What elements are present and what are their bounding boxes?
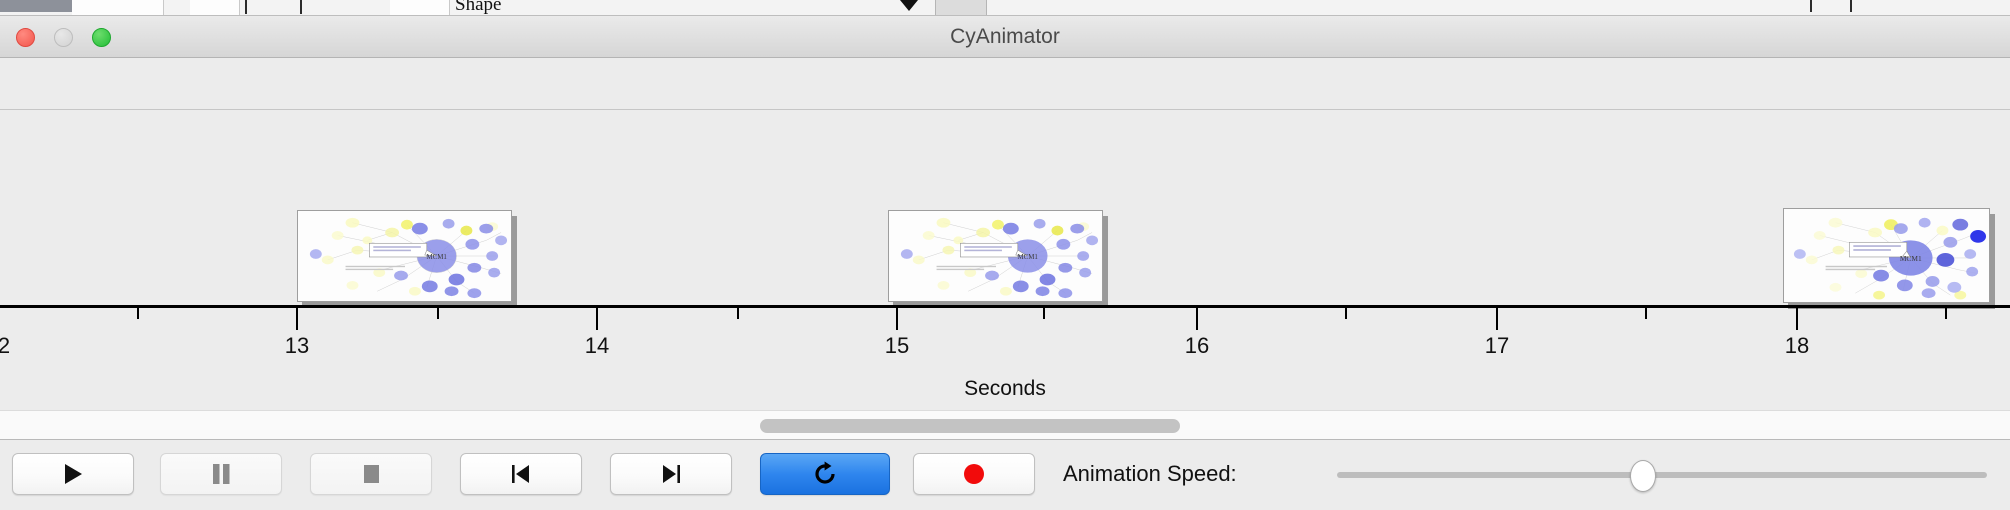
hub-node-label: MCM1 bbox=[1018, 254, 1039, 261]
timeline-frame[interactable]: MCM1 bbox=[888, 210, 1103, 302]
axis-tick bbox=[1496, 308, 1498, 330]
bg-shape-label: Shape bbox=[455, 0, 501, 16]
axis-tick bbox=[596, 308, 598, 330]
bg-wedge bbox=[900, 0, 918, 11]
hub-node-label: MCM1 bbox=[427, 254, 448, 261]
bg-dark-block bbox=[0, 0, 72, 12]
axis-tick bbox=[737, 308, 739, 319]
axis-tick-label: 17 bbox=[1485, 333, 1509, 359]
bg-segment bbox=[390, 0, 450, 16]
axis-tick-label: 13 bbox=[285, 333, 309, 359]
network-graph: MCM1 bbox=[889, 211, 1102, 301]
axis-tick bbox=[1945, 308, 1947, 319]
timeline-axis[interactable]: 2 13 14 15 16 17 18 Seconds bbox=[0, 305, 2010, 410]
timeline-frame[interactable]: MCM1 bbox=[297, 210, 512, 302]
axis-tick-label: 18 bbox=[1785, 333, 1809, 359]
play-button[interactable] bbox=[12, 453, 134, 495]
bg-tick bbox=[1850, 0, 1852, 12]
timeline-panel[interactable]: MCM1 bbox=[0, 110, 2010, 410]
network-graph: MCM1 bbox=[298, 211, 511, 301]
skip-end-icon bbox=[658, 461, 684, 487]
background-window-strip: Shape bbox=[0, 0, 2010, 16]
frames-layer: MCM1 bbox=[0, 110, 2010, 305]
axis-tick bbox=[896, 308, 898, 330]
frame-thumbnail: MCM1 bbox=[1783, 208, 1990, 303]
frame-toolbar: ✚ Clear All Frames bbox=[0, 58, 2010, 110]
axis-tick bbox=[1796, 308, 1798, 330]
slider-thumb[interactable] bbox=[1630, 460, 1656, 492]
axis-tick bbox=[1043, 308, 1045, 319]
axis-tick bbox=[137, 308, 139, 319]
timeline-scrollbar[interactable] bbox=[0, 410, 2010, 440]
axis-tick-label: 16 bbox=[1185, 333, 1209, 359]
axis-tick-label: 15 bbox=[885, 333, 909, 359]
network-graph: MCM1 bbox=[1784, 209, 1989, 302]
frame-thumbnail: MCM1 bbox=[888, 210, 1103, 302]
bg-tick bbox=[300, 0, 302, 14]
axis-line bbox=[0, 305, 2010, 308]
hub-node-label: MCM1 bbox=[1900, 254, 1922, 263]
axis-tick-label: 14 bbox=[585, 333, 609, 359]
timeline-frame[interactable]: MCM1 bbox=[1783, 208, 1990, 303]
axis-tick bbox=[1345, 308, 1347, 319]
skip-start-icon bbox=[508, 461, 534, 487]
pause-icon bbox=[209, 461, 233, 487]
pause-button[interactable] bbox=[160, 453, 282, 495]
axis-tick bbox=[437, 308, 439, 319]
frame-thumbnail: MCM1 bbox=[297, 210, 512, 302]
axis-tick bbox=[296, 308, 298, 330]
animation-speed-slider[interactable] bbox=[1337, 453, 1987, 495]
bg-segment bbox=[72, 0, 164, 16]
scrollbar-thumb[interactable] bbox=[760, 419, 1180, 433]
axis-tick bbox=[1645, 308, 1647, 319]
playback-controls: Animation Speed: bbox=[0, 441, 2010, 510]
skip-end-button[interactable] bbox=[610, 453, 732, 495]
bg-tick bbox=[1810, 0, 1812, 12]
bg-gray-block bbox=[935, 0, 987, 16]
record-button[interactable] bbox=[913, 453, 1035, 495]
loop-icon bbox=[811, 460, 839, 488]
axis-tick-label: 2 bbox=[0, 333, 10, 359]
slider-track[interactable] bbox=[1337, 472, 1987, 478]
loop-button[interactable] bbox=[760, 453, 890, 495]
stop-icon bbox=[359, 461, 383, 487]
skip-start-button[interactable] bbox=[460, 453, 582, 495]
play-icon bbox=[60, 461, 86, 487]
window-titlebar[interactable]: CyAnimator bbox=[0, 16, 2010, 58]
axis-title: Seconds bbox=[0, 377, 2010, 401]
axis-tick bbox=[1196, 308, 1198, 330]
bg-segment bbox=[190, 0, 240, 16]
bg-tick bbox=[245, 0, 247, 14]
window-title: CyAnimator bbox=[0, 16, 2010, 58]
stop-button[interactable] bbox=[310, 453, 432, 495]
animation-speed-label: Animation Speed: bbox=[1063, 453, 1237, 495]
record-icon bbox=[961, 461, 987, 487]
